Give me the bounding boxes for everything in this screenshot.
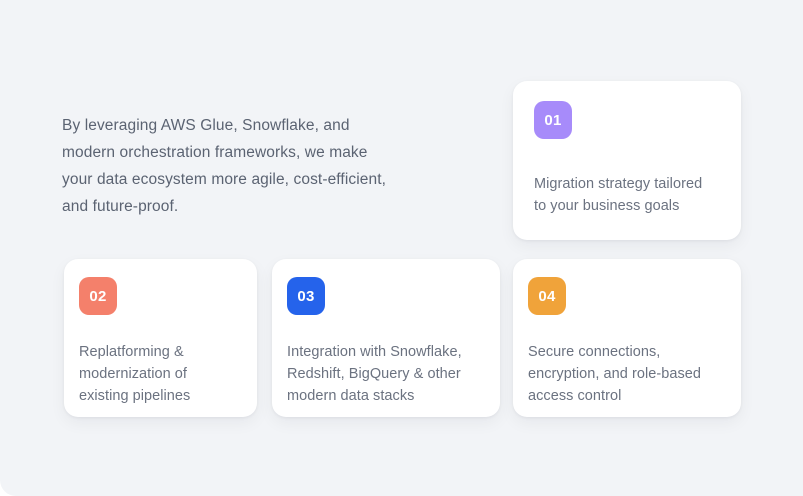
card-text-line: Integration with Snowflake, [287,341,484,363]
card-text-line: Redshift, BigQuery & other [287,363,484,385]
card-number-badge: 01 [534,101,572,139]
feature-card-04[interactable]: 04 Secure connections, encryption, and r… [513,259,741,417]
card-number-badge: 02 [79,277,117,315]
card-text-line: existing pipelines [79,385,241,407]
feature-card-01[interactable]: 01 Migration strategy tailored to your b… [513,81,741,240]
feature-card-03[interactable]: 03 Integration with Snowflake, Redshift,… [272,259,500,417]
card-text-line: Replatforming & [79,341,241,363]
card-description: Secure connections, encryption, and role… [528,341,725,407]
intro-paragraph: By leveraging AWS Glue, Snowflake, and m… [62,112,442,220]
intro-line: modern orchestration frameworks, we make [62,139,442,166]
intro-line: your data ecosystem more agile, cost-eff… [62,166,442,193]
card-description: Replatforming & modernization of existin… [79,341,241,407]
card-text-line: encryption, and role-based [528,363,725,385]
card-text-line: modern data stacks [287,385,484,407]
page-canvas: By leveraging AWS Glue, Snowflake, and m… [0,0,803,496]
feature-card-02[interactable]: 02 Replatforming & modernization of exis… [64,259,257,417]
card-number-badge: 04 [528,277,566,315]
card-description: Migration strategy tailored to your busi… [534,173,725,217]
card-text-line: access control [528,385,725,407]
card-description: Integration with Snowflake, Redshift, Bi… [287,341,484,407]
intro-line: By leveraging AWS Glue, Snowflake, and [62,112,442,139]
card-number-badge: 03 [287,277,325,315]
card-text-line: Secure connections, [528,341,725,363]
intro-line: and future-proof. [62,193,442,220]
card-text-line: Migration strategy tailored [534,173,725,195]
card-text-line: to your business goals [534,195,725,217]
card-text-line: modernization of [79,363,241,385]
